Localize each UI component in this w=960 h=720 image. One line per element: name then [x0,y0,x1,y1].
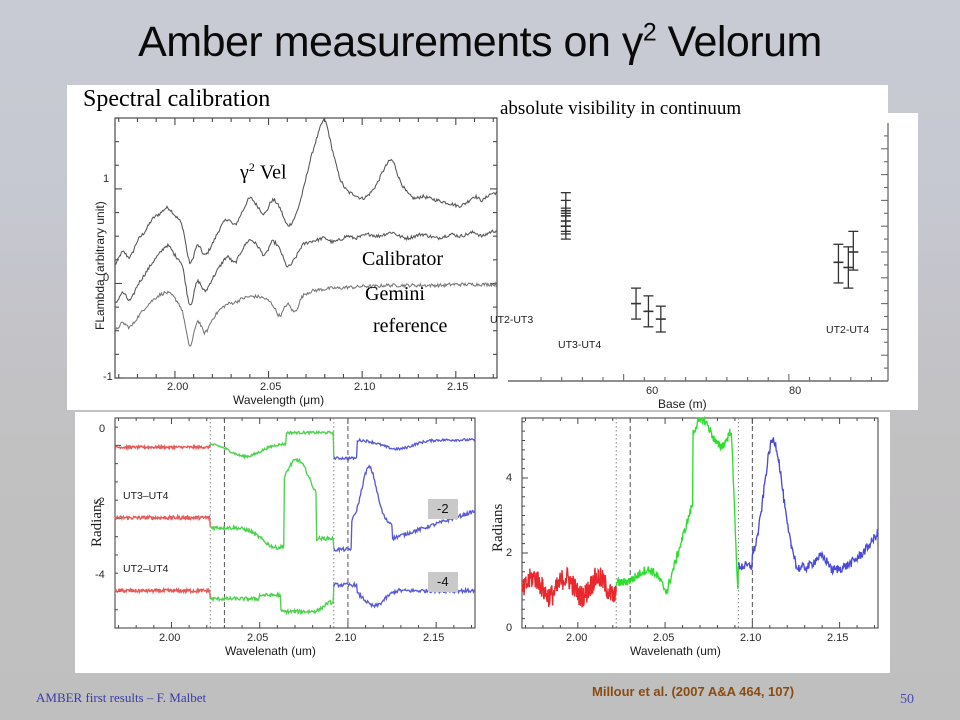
page-title: Amber measurements on γ2 Velorum [0,18,960,67]
dp-curve-label-ut3-ut4: UT3–UT4 [123,490,169,502]
dp-ytick-0: 0 [99,423,105,435]
title-main-text: Amber measurements on [138,18,622,66]
title-tail-text: Velorum [656,18,822,66]
label-reference: reference [373,315,447,338]
dp-xtick-210: 2.10 [335,632,356,644]
dp-xtick-200: 2.00 [159,632,180,644]
chart-differential-phase: 0 -2 -4 2.00 2.05 2.10 2.15 Wavelenath (… [75,412,495,673]
slide-root: Amber measurements on γ2 Velorum -1 0 1 … [0,0,960,720]
spectra-xaxis-label: Wavelength (μm) [233,393,324,407]
gamma-vel-text: Vel [255,162,287,184]
cp-yaxis-label: Radians [490,504,507,552]
footer-citation: Millour et al. (2007 A&A 464, 107) [592,684,794,699]
dp-xtick-205: 2.05 [247,632,268,644]
cp-ytick-0: 0 [506,622,512,634]
cp-ytick-4: 4 [506,472,512,484]
spectra-xtick-205: 2.05 [260,381,281,393]
label-gemini: Gemini [365,283,425,306]
vis-group-label-ut2-ut3: UT2-UT3 [490,314,533,326]
vis-group-label-ut2-ut4: UT2-UT4 [826,324,869,336]
spectra-xtick-200: 2.00 [167,381,188,393]
spectra-yaxis-label: FLambda (arbitrary unit) [93,201,107,330]
spectra-xtick-215: 2.15 [447,381,468,393]
vis-xaxis-label: Base (m) [658,397,707,411]
label-calibrator: Calibrator [362,248,443,271]
spectra-ytick-1: 1 [103,173,109,185]
vis-xtick-60: 60 [646,385,658,397]
title-superscript: 2 [643,19,656,47]
spectra-ytick-n1: -1 [103,371,113,383]
cp-xtick-205: 2.05 [653,632,674,644]
slide-page-number: 50 [900,692,914,708]
label-spectral-calibration: Spectral calibration [83,86,270,113]
dp-xaxis-label: Wavelenath (um) [225,644,316,658]
label-absolute-visibility: absolute visibility in continuum [500,98,741,120]
vis-group-label-ut3-ut4: UT3-UT4 [558,339,601,351]
cp-xtick-200: 2.00 [566,632,587,644]
dp-yaxis-label: Radians [89,499,106,547]
chart-absolute-visibility: 60 80 Base (m) UT2-UT3 UT3-UT4 UT2-UT4 [468,113,918,410]
label-gamma2-vel: γ2 Vel [240,160,287,185]
cp-xtick-215: 2.15 [827,632,848,644]
title-gamma-symbol: γ [622,18,643,66]
chart-closure-phase: 0 2 4 2.00 2.05 2.10 2.15 Wavelenath (um… [478,412,890,673]
gamma-symbol: γ [240,162,249,184]
dp-xtick-215: 2.15 [423,632,444,644]
spectra-xtick-210: 2.10 [354,381,375,393]
vis-xtick-80: 80 [789,385,801,397]
cp-xaxis-label: Wavelenath (um) [630,644,721,658]
dp-right-axis-label-n2: -2 [428,499,458,519]
footer-author: AMBER first results – F. Malbet [36,690,206,706]
dp-ytick-n4: -4 [95,569,105,581]
cp-xtick-210: 2.10 [740,632,761,644]
visibility-svg [468,113,918,410]
dp-right-axis-label-n4: -4 [428,572,458,592]
dp-curve-label-ut2-ut4: UT2–UT4 [123,563,169,575]
